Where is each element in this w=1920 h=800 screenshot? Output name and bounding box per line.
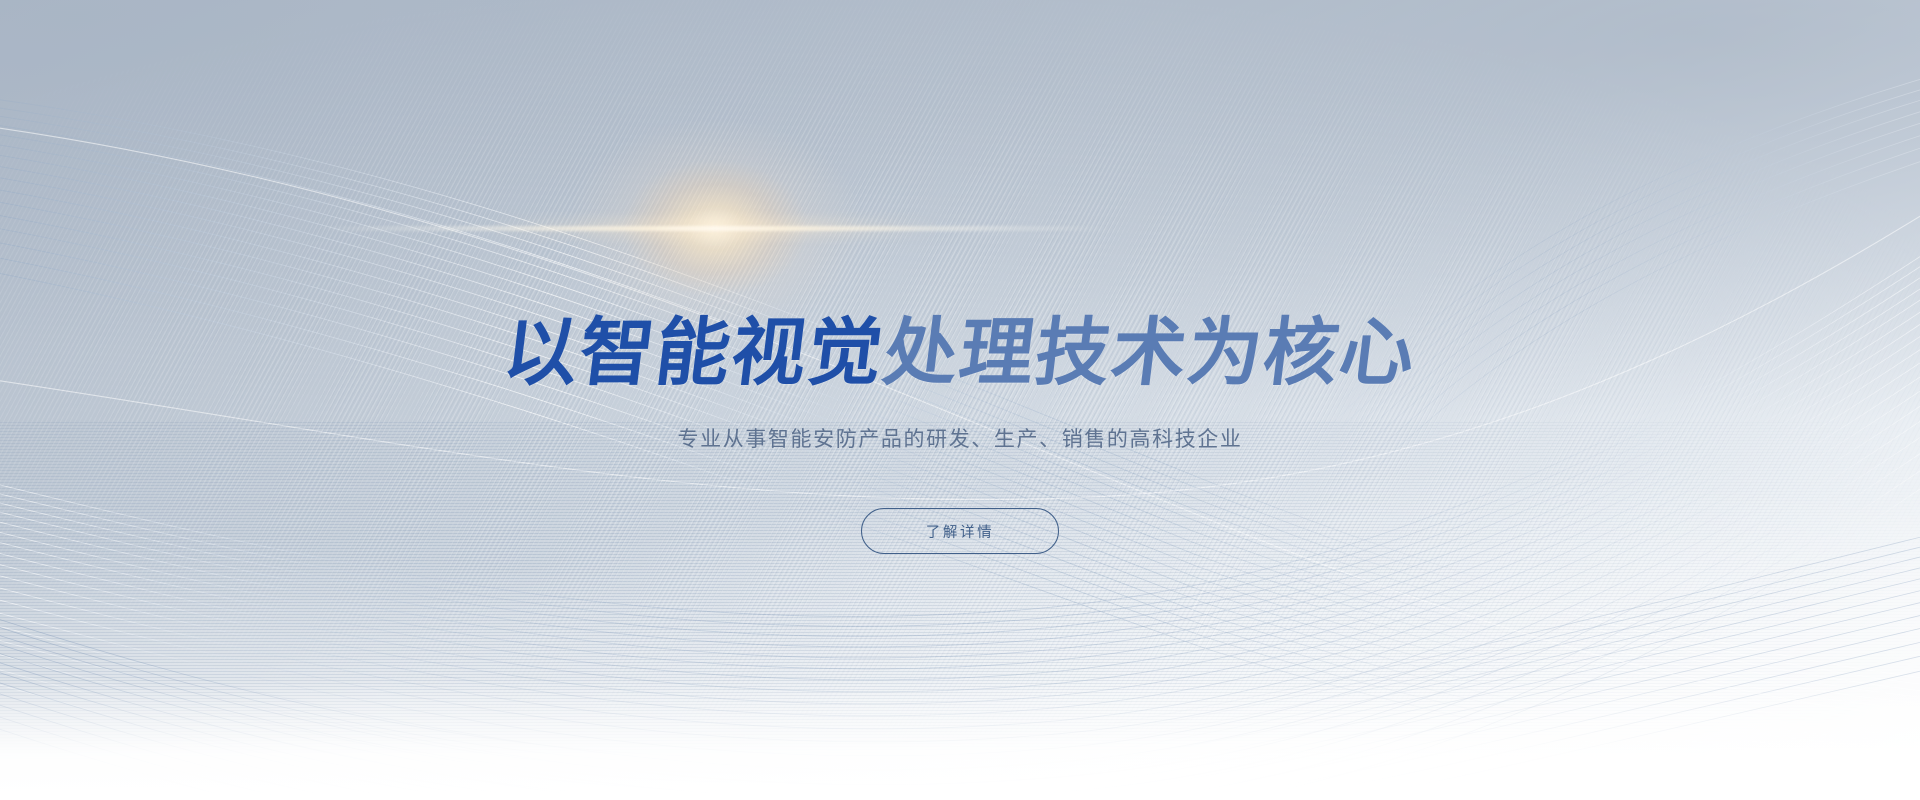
- headline-segment-primary: 以智能视觉: [499, 312, 889, 394]
- headline-segment-secondary: 处理技术为核心: [879, 312, 1421, 394]
- learn-more-button[interactable]: 了解详情: [861, 508, 1059, 554]
- hero-banner: 以智能视觉处理技术为核心 专业从事智能安防产品的研发、生产、销售的高科技企业 了…: [0, 0, 1920, 800]
- hero-subtitle: 专业从事智能安防产品的研发、生产、销售的高科技企业: [0, 425, 1920, 455]
- hero-cta-container: 了解详情: [0, 508, 1920, 554]
- hero-content: 以智能视觉处理技术为核心 专业从事智能安防产品的研发、生产、销售的高科技企业 了…: [0, 0, 1920, 800]
- hero-headline: 以智能视觉处理技术为核心: [0, 312, 1920, 394]
